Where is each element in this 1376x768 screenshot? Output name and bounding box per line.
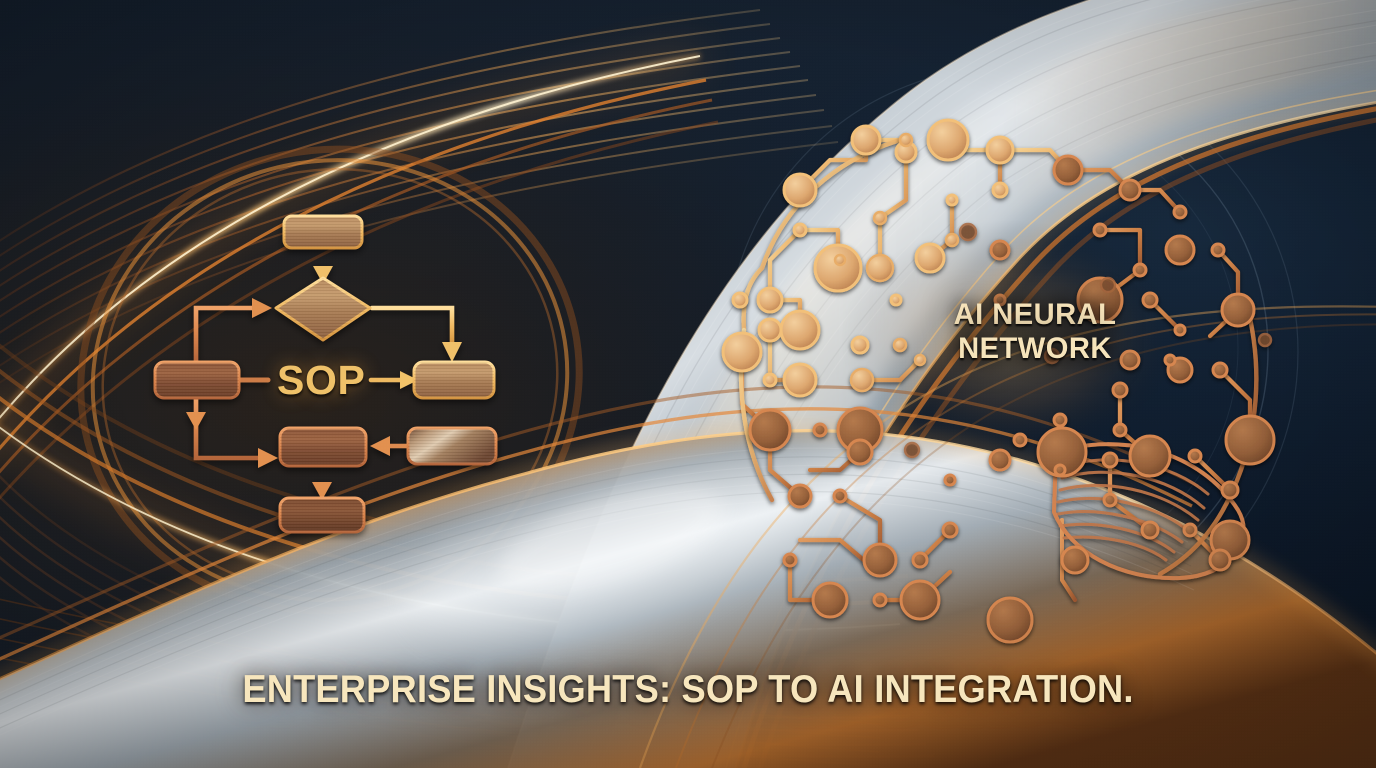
banner-canvas: AI NEURAL NETWORK SOP ENTERPRISE INSIGHT…: [0, 0, 1376, 768]
brain-circuit-illustration: [0, 0, 1376, 768]
